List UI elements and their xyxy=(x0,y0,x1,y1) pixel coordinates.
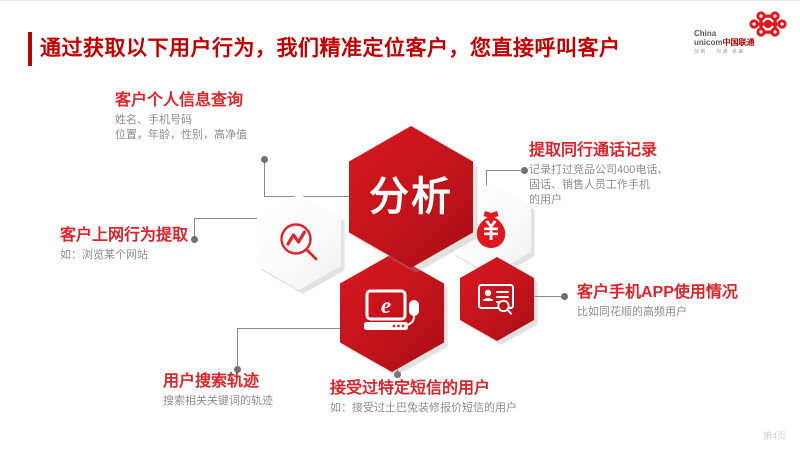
logo-text-unicom: unicom xyxy=(694,38,722,47)
callout-call-records-sub-line-1: 记录打过竞品公司400电话、 xyxy=(529,163,668,178)
callout-customer-profile-sub-line-2: 位置，年龄，性别，高净值 xyxy=(115,128,247,143)
callout-search-track-title: 用户搜索轨迹 xyxy=(163,371,273,392)
connector-line-calls-horizontal xyxy=(486,170,524,171)
connector-line-search-vertical xyxy=(237,328,238,368)
callout-app-usage: 客户手机APP使用情况 比如同花顺的高频用户 xyxy=(577,282,738,320)
callout-customer-profile-sub: 姓名、手机号码 位置，年龄，性别，高净值 xyxy=(115,113,247,143)
connector-dot-web xyxy=(191,236,198,243)
callout-app-usage-title: 客户手机APP使用情况 xyxy=(577,282,738,303)
magnifier-trend-icon xyxy=(276,219,322,265)
callout-web-behavior: 客户上网行为提取 如：浏览某个网站 xyxy=(60,225,188,263)
callout-web-behavior-sub-line-1: 如：浏览某个网站 xyxy=(60,248,188,263)
callout-app-usage-sub: 比如同花顺的高频用户 xyxy=(577,305,738,320)
connector-line-search-horizontal xyxy=(237,328,347,329)
connector-dot-profile xyxy=(261,156,268,163)
callout-app-usage-sub-line-1: 比如同花顺的高频用户 xyxy=(577,305,738,320)
callout-call-records-sub-line-2: 固话、销售人员工作手机 xyxy=(529,178,668,193)
logo-wordmark: China unicom中国联通 创新 · 沟通 未来 xyxy=(694,30,790,56)
header-divider xyxy=(0,0,800,1)
connector-dot-app xyxy=(561,293,568,300)
china-unicom-logo: China unicom中国联通 创新 · 沟通 未来 xyxy=(694,10,790,58)
callout-call-records: 提取同行通话记录 记录打过竞品公司400电话、 固话、销售人员工作手机 的用户 xyxy=(529,140,668,208)
callout-customer-profile: 客户个人信息查询 姓名、手机号码 位置，年龄，性别，高净值 xyxy=(115,90,247,143)
logo-text-china: China xyxy=(694,30,790,38)
id-card-search-icon xyxy=(476,281,518,317)
logo-text-cn: 中国联通 xyxy=(722,38,754,47)
svg-text:e: e xyxy=(381,293,391,318)
logo-tagline: 创新 · 沟通 未来 xyxy=(694,48,790,56)
callout-search-track: 用户搜索轨迹 搜索相关关键词的轨迹 xyxy=(163,371,273,409)
callout-search-track-sub-line-1: 搜索相关关键词的轨迹 xyxy=(163,394,273,409)
page-title: 通过获取以下用户行为，我们精准定位客户，您直接呼叫客户 xyxy=(40,32,621,66)
computer-ie-mouse-icon: e xyxy=(362,286,422,340)
callout-customer-profile-sub-line-1: 姓名、手机号码 xyxy=(115,113,247,128)
slide-canvas: 通过获取以下用户行为，我们精准定位客户，您直接呼叫客户 xyxy=(0,0,800,450)
callout-sms-users: 接受过特定短信的用户 如：接受过土巴兔装修报价短信的用户 xyxy=(330,378,517,416)
connector-line-profile-horizontal xyxy=(264,196,359,197)
connector-line-profile-vertical xyxy=(264,160,265,196)
hex-center-label: 分析 xyxy=(369,177,453,217)
callout-customer-profile-title: 客户个人信息查询 xyxy=(115,90,247,111)
title-accent-bar xyxy=(28,32,32,66)
page-number: 第4页 xyxy=(763,429,786,442)
callout-web-behavior-title: 客户上网行为提取 xyxy=(60,225,188,246)
callout-call-records-sub-line-3: 的用户 xyxy=(529,193,668,208)
callout-sms-users-sub: 如：接受过土巴兔装修报价短信的用户 xyxy=(330,401,517,416)
callout-web-behavior-sub: 如：浏览某个网站 xyxy=(60,248,188,263)
callout-call-records-sub: 记录打过竞品公司400电话、 固话、销售人员工作手机 的用户 xyxy=(529,163,668,208)
callout-sms-users-sub-line-1: 如：接受过土巴兔装修报价短信的用户 xyxy=(330,401,517,416)
callout-call-records-title: 提取同行通话记录 xyxy=(529,140,668,161)
connector-dot-calls xyxy=(521,167,528,174)
callout-sms-users-title: 接受过特定短信的用户 xyxy=(330,378,517,399)
callout-search-track-sub: 搜索相关关键词的轨迹 xyxy=(163,394,273,409)
